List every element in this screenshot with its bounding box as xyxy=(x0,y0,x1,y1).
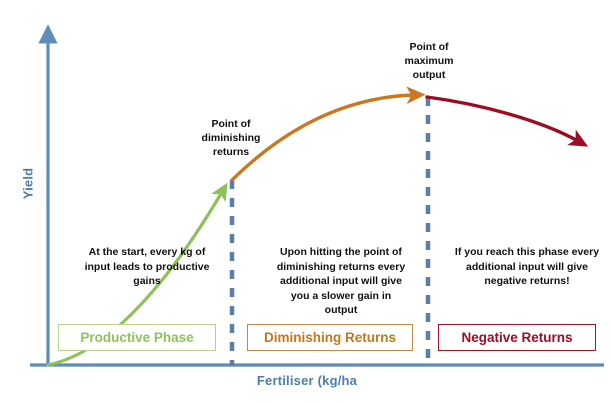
callout-diminishing-returns: Point of diminishing returns xyxy=(179,117,283,159)
x-axis-title: Fertiliser (kg/ha xyxy=(192,373,422,388)
y-axis-title: Yield xyxy=(21,154,36,214)
phase-description-productive: At the start, every kg of input leads to… xyxy=(61,245,233,289)
phase-description-negative: If you reach this phase every additional… xyxy=(444,245,610,289)
chart-canvas: Yield Fertiliser (kg/ha Point of diminis… xyxy=(0,0,613,403)
phase-box-diminishing: Diminishing Returns xyxy=(247,324,413,351)
phase-box-productive: Productive Phase xyxy=(58,324,216,351)
phase-description-diminishing: Upon hitting the point of diminishing re… xyxy=(256,245,426,318)
phase-box-negative: Negative Returns xyxy=(438,324,596,351)
negative-returns-curve xyxy=(427,97,578,141)
callout-maximum-output: Point of maximum output xyxy=(377,40,481,82)
